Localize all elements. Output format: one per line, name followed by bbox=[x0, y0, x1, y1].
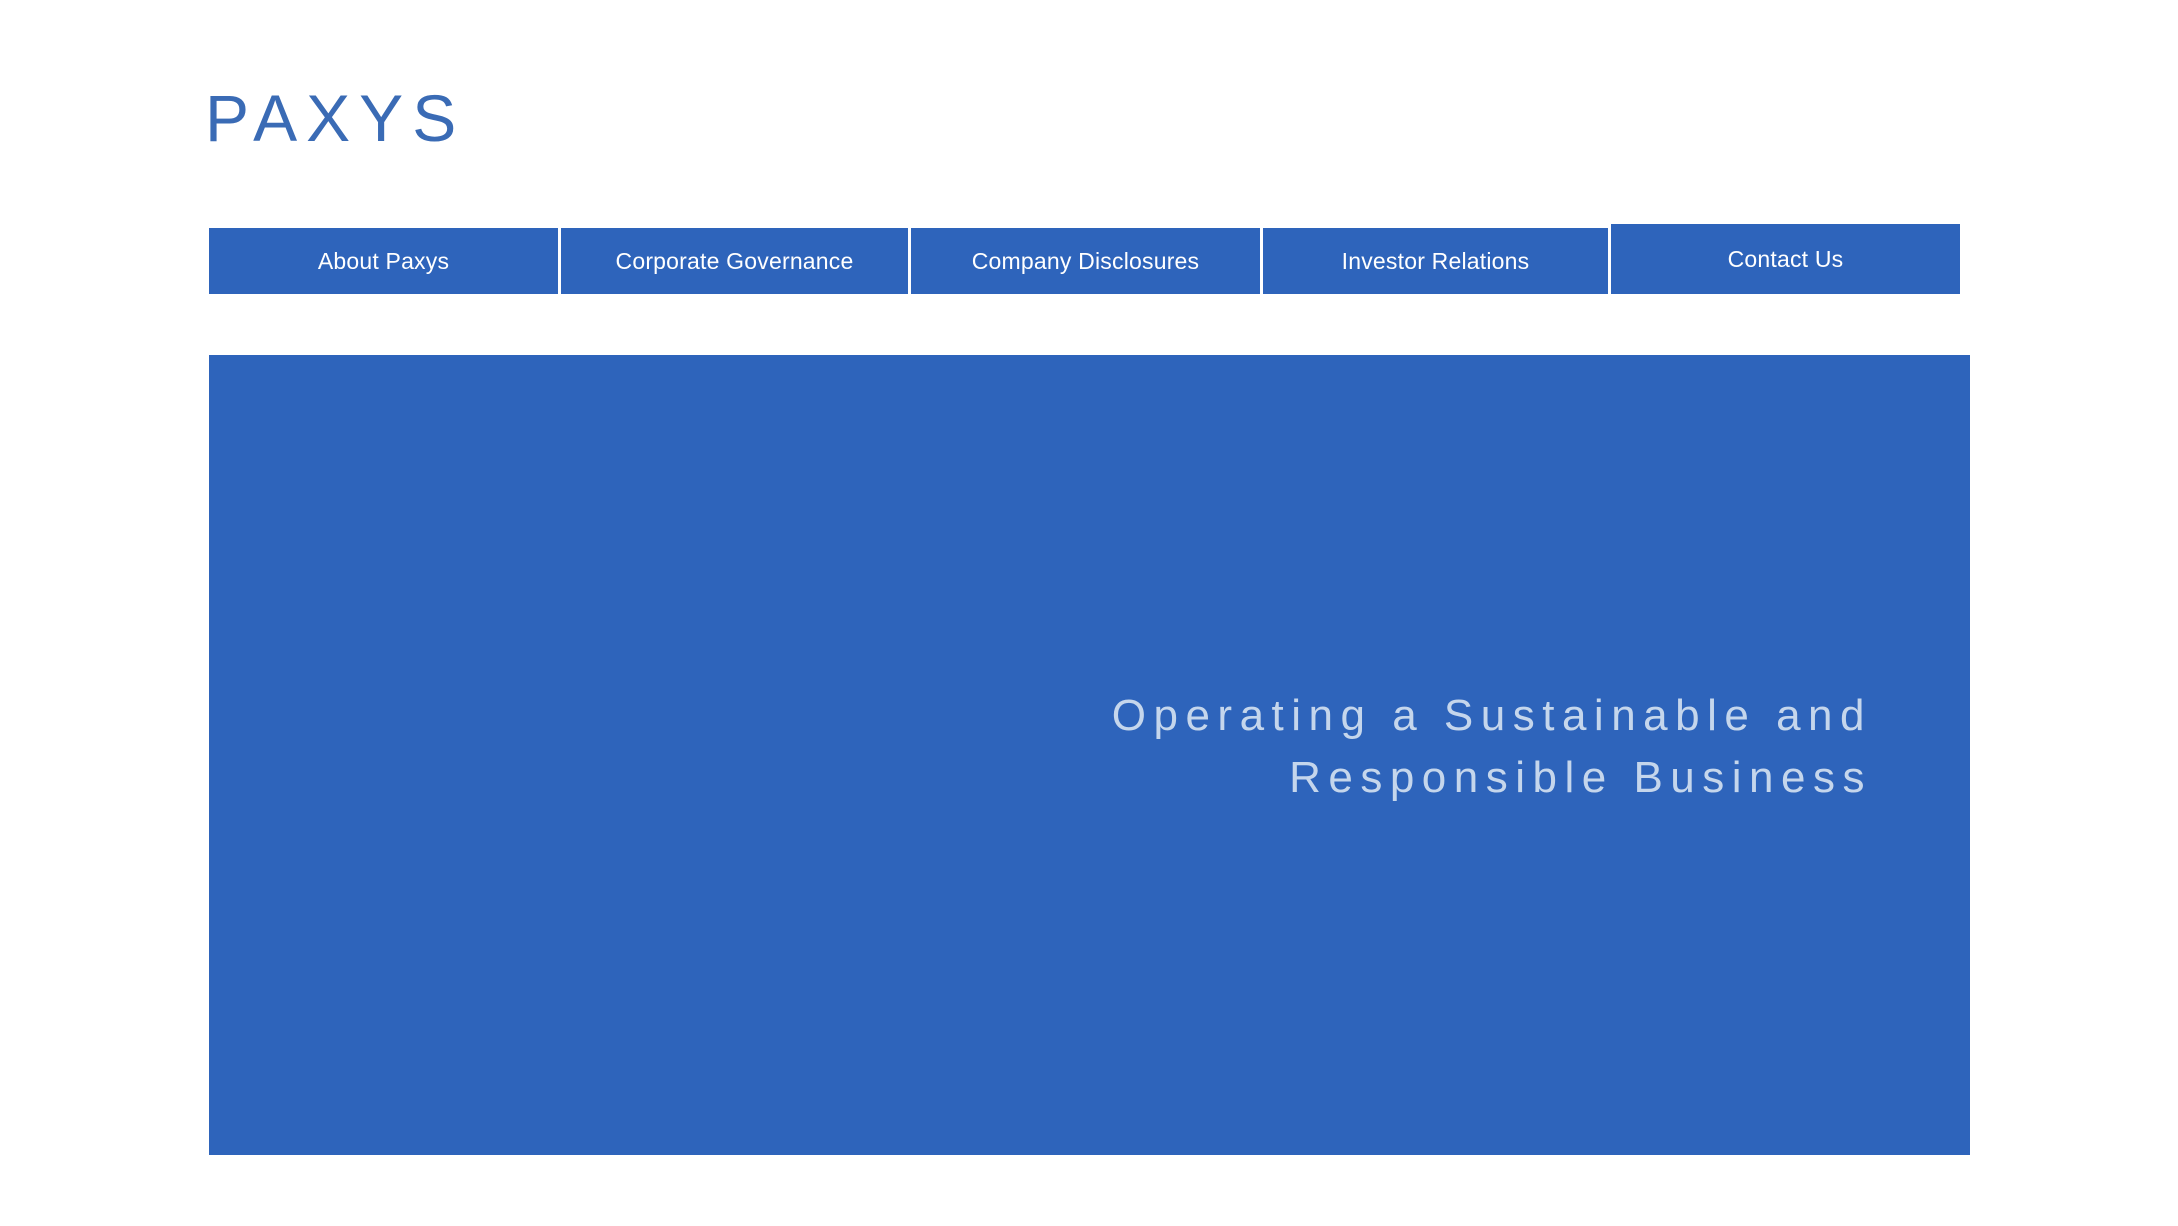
nav-item-label: Investor Relations bbox=[1342, 248, 1530, 275]
hero-headline-line-1: Operating a Sustainable and bbox=[1112, 685, 1872, 747]
nav-item-label: Corporate Governance bbox=[616, 248, 854, 275]
hero-headline: Operating a Sustainable and Responsible … bbox=[1112, 685, 1872, 810]
nav-item-contact-us[interactable]: Contact Us bbox=[1611, 224, 1960, 294]
nav-item-company-disclosures[interactable]: Company Disclosures bbox=[911, 228, 1260, 294]
nav-item-label: Contact Us bbox=[1728, 246, 1844, 273]
hero-banner: Operating a Sustainable and Responsible … bbox=[209, 355, 1970, 1155]
page-root: PAXYS About Paxys Corporate Governance C… bbox=[0, 0, 2178, 1226]
nav-item-label: About Paxys bbox=[318, 248, 449, 275]
nav-item-label: Company Disclosures bbox=[972, 248, 1200, 275]
nav-item-about-paxys[interactable]: About Paxys bbox=[209, 228, 558, 294]
logo-wordmark: PAXYS bbox=[205, 85, 465, 151]
nav-item-investor-relations[interactable]: Investor Relations bbox=[1263, 228, 1608, 294]
primary-navigation: About Paxys Corporate Governance Company… bbox=[209, 224, 1960, 294]
hero-headline-line-2: Responsible Business bbox=[1112, 747, 1872, 809]
site-logo[interactable]: PAXYS bbox=[205, 78, 465, 158]
nav-item-corporate-governance[interactable]: Corporate Governance bbox=[561, 228, 908, 294]
